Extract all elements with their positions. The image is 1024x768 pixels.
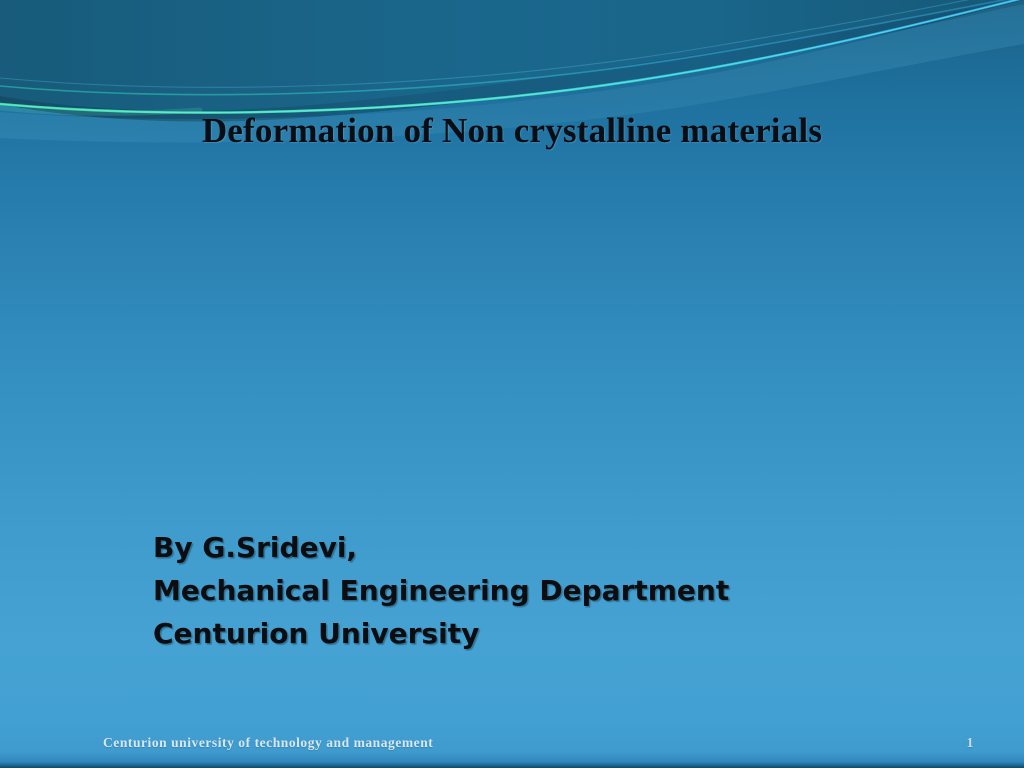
wave-accent-line-highlight xyxy=(0,0,1024,113)
author-line-university: Centurion University xyxy=(153,612,873,655)
slide-title: Deformation of Non crystalline materials xyxy=(0,111,1024,151)
wave-accent-line-secondary xyxy=(0,0,1024,95)
wave-accent-line-primary xyxy=(0,0,1024,113)
wave-dark-band xyxy=(0,0,1024,122)
author-line-department: Mechanical Engineering Department xyxy=(153,569,873,612)
wave-accent-line-tertiary xyxy=(0,0,1024,87)
footer-organization: Centurion university of technology and m… xyxy=(103,735,433,751)
author-block: By G.Sridevi, Mechanical Engineering Dep… xyxy=(153,526,873,655)
presentation-slide: Deformation of Non crystalline materials… xyxy=(0,0,1024,768)
slide-number: 1 xyxy=(956,735,984,751)
wave-mid-band xyxy=(0,0,1024,111)
author-line-name: By G.Sridevi, xyxy=(153,526,873,569)
